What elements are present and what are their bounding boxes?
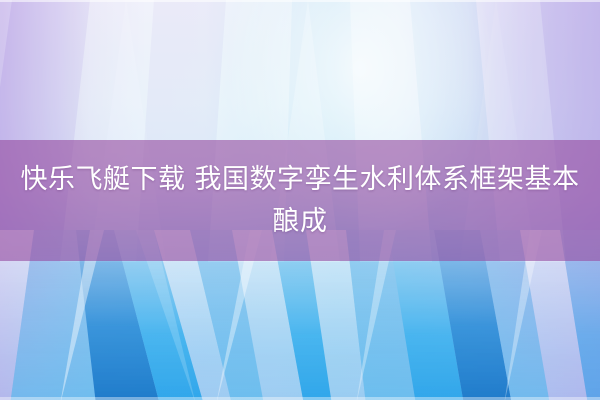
caption-band: 快乐飞艇下载 我国数字孪生水利体系框架基本酿成 <box>0 140 600 261</box>
top-edge-highlight <box>0 0 600 2</box>
banner-graphic: 快乐飞艇下载 我国数字孪生水利体系框架基本酿成 <box>0 0 600 400</box>
caption-title: 快乐飞艇下载 我国数字孪生水利体系框架基本酿成 <box>14 159 586 243</box>
